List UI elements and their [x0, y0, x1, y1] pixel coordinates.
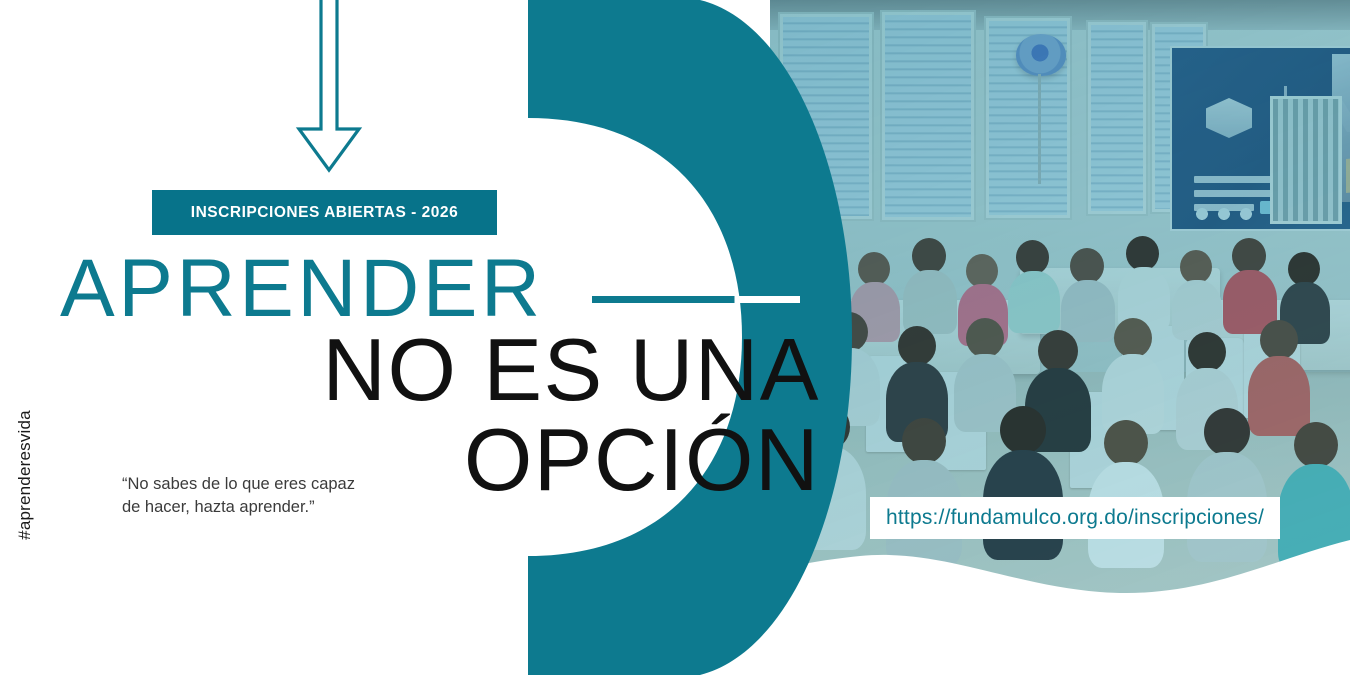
hashtag-label: #aprenderesvida: [15, 365, 35, 585]
quote-text: “No sabes de lo que eres capaz de hacer,…: [122, 473, 372, 520]
status-badge: INSCRIPCIONES ABIERTAS - 2026: [152, 190, 497, 235]
headline-line-1: APRENDER: [60, 248, 544, 330]
badge-label: INSCRIPCIONES ABIERTAS - 2026: [191, 204, 458, 222]
horizontal-rule: [592, 296, 800, 303]
down-arrow-outline-icon: [288, 0, 370, 176]
registration-url[interactable]: https://fundamulco.org.do/inscripciones/: [886, 506, 1264, 530]
registration-url-bar[interactable]: https://fundamulco.org.do/inscripciones/: [870, 497, 1280, 539]
headline-line-2: NO ES UNA: [0, 326, 820, 414]
poster-canvas: INSCRIPCIONES ABIERTAS - 2026 APRENDER N…: [0, 0, 1350, 675]
